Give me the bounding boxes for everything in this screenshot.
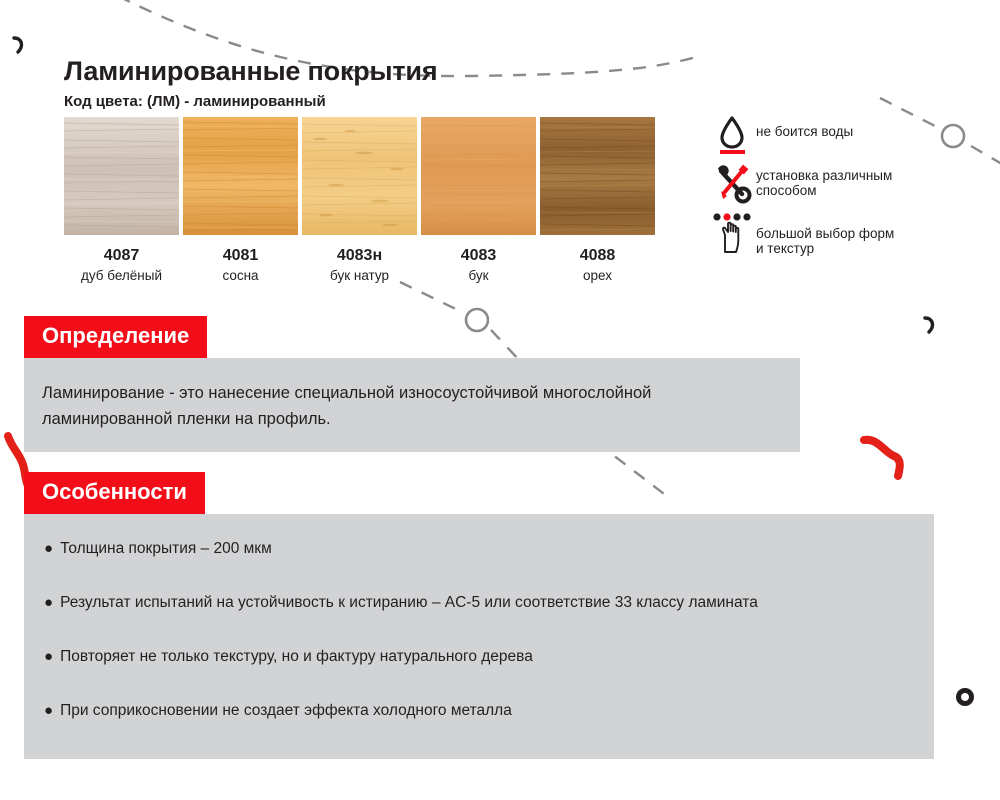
swatch-name: дуб белёный <box>81 268 162 283</box>
list-item: ● При соприкосновении не создает эффекта… <box>44 698 914 724</box>
swatch-code: 4088 <box>580 247 616 265</box>
feature-item-water: не боится воды <box>712 114 894 156</box>
feature-label: не боится воды <box>756 114 853 139</box>
swatch-code: 4083 <box>461 247 497 265</box>
definition-body: Ламинирование - это нанесение специально… <box>24 358 800 452</box>
water-drop-icon <box>712 114 756 156</box>
color-swatch-row: 4087 дуб белёный <box>64 117 655 283</box>
swatch-item[interactable]: 4088 орех <box>540 117 655 283</box>
feature-label: установка различным способом <box>756 163 892 198</box>
list-item: ● Повторяет не только текстуру, но и фак… <box>44 644 914 670</box>
swatch-name: орех <box>583 268 612 283</box>
header-block: Ламинированные покрытия Код цвета: (ЛМ) … <box>64 56 437 110</box>
feature-item-install: установка различным способом <box>712 163 894 205</box>
wood-swatch-oak-white-icon[interactable] <box>64 117 179 235</box>
bullet-glyph: ● <box>44 644 53 670</box>
wood-swatch-pine-icon[interactable] <box>183 117 298 235</box>
page-subtitle: Код цвета: (ЛМ) - ламинированный <box>64 93 437 110</box>
wood-swatch-walnut-icon[interactable] <box>540 117 655 235</box>
swatch-name: бук <box>468 268 488 283</box>
red-squiggle-right <box>864 440 900 476</box>
decor-circle-top-right <box>942 125 964 147</box>
swatch-item[interactable]: 4081 сосна <box>183 117 298 283</box>
dashed-curve-mid <box>400 282 462 312</box>
specs-header-label: Особенности <box>42 479 187 504</box>
specs-header: Особенности <box>24 472 205 514</box>
swatch-code: 4083н <box>337 247 382 265</box>
list-item-text: При соприкосновении не создает эффекта х… <box>60 698 910 724</box>
swatch-name: бук натур <box>330 268 389 283</box>
bullet-glyph: ● <box>44 536 53 562</box>
list-item-text: Толщина покрытия – 200 мкм <box>60 536 910 562</box>
list-item: ● Результат испытаний на устойчивость к … <box>44 590 914 616</box>
hand-pointer-icon <box>712 212 756 254</box>
page-title: Ламинированные покрытия <box>64 56 437 87</box>
list-item: ● Толщина покрытия – 200 мкм <box>44 536 914 562</box>
dashed-curve-top-right-tail <box>971 146 1000 164</box>
bullet-glyph: ● <box>44 698 53 724</box>
comma-mark-right <box>925 318 932 332</box>
list-item-text: Повторяет не только текстуру, но и факту… <box>60 644 910 670</box>
swatch-code: 4087 <box>104 247 140 265</box>
tools-cross-icon <box>712 163 756 205</box>
bullet-glyph: ● <box>44 590 53 616</box>
swatch-code: 4081 <box>223 247 259 265</box>
list-item-text: Результат испытаний на устойчивость к ис… <box>60 590 910 616</box>
decor-ring-bottom-right <box>959 691 972 704</box>
definition-header: Определение <box>24 316 207 358</box>
feature-item-variety: большой выбор форм и текстур <box>712 212 894 256</box>
specs-section: Особенности ● Толщина покрытия – 200 мкм… <box>24 472 934 759</box>
wood-swatch-beech-icon[interactable] <box>421 117 536 235</box>
swatch-item[interactable]: 4083н бук натур <box>302 117 417 283</box>
wood-swatch-beech-natural-icon[interactable] <box>302 117 417 235</box>
swatch-item[interactable]: 4087 дуб белёный <box>64 117 179 283</box>
feature-label: большой выбор форм и текстур <box>756 212 894 256</box>
swatch-item[interactable]: 4083 бук <box>421 117 536 283</box>
swatch-name: сосна <box>222 268 258 283</box>
definition-section: Определение Ламинирование - это нанесени… <box>24 316 800 452</box>
slide-root: Ламинированные покрытия Код цвета: (ЛМ) … <box>0 0 1000 800</box>
specs-body: ● Толщина покрытия – 200 мкм ● Результат… <box>24 514 934 759</box>
comma-mark-top-left <box>14 38 21 52</box>
definition-header-label: Определение <box>42 323 189 348</box>
definition-text: Ламинирование - это нанесение специально… <box>42 380 732 432</box>
feature-list: не боится воды установка различным сп <box>712 114 894 263</box>
